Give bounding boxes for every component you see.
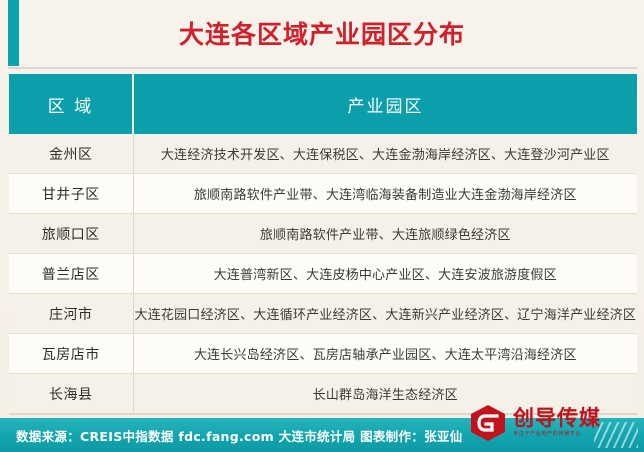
cell-parks: 大连经济技术开发区、大连保税区、大连金渤海岸经济区、大连登沙河产业区 — [133, 134, 637, 174]
cell-parks: 旅顺南路软件产业带、大连湾临海装备制造业大连金渤海岸经济区 — [133, 174, 637, 214]
table-row: 普兰店区 大连普湾新区、大连皮杨中心产业区、大连安波旅游度假区 — [9, 254, 637, 294]
cell-region: 金州区 — [9, 134, 133, 174]
cell-region: 普兰店区 — [9, 254, 133, 294]
cell-parks: 旅顺南路软件产业带、大连旅顺绿色经济区 — [133, 214, 637, 254]
title-band: 大连各区域产业园区分布 — [0, 0, 644, 68]
page-title: 大连各区域产业园区分布 — [0, 0, 644, 66]
table-row: 金州区 大连经济技术开发区、大连保税区、大连金渤海岸经济区、大连登沙河产业区 — [9, 134, 637, 174]
brand-wordmark: 创导传媒 专注于产业地产的传播平台 — [513, 408, 601, 438]
table-row: 甘井子区 旅顺南路软件产业带、大连湾临海装备制造业大连金渤海岸经济区 — [9, 174, 637, 214]
table-row: 瓦房店市 大连长兴岛经济区、瓦房店轴承产业园区、大连太平湾沿海经济区 — [9, 334, 637, 374]
table-row: 庄河市 大连花园口经济区、大连循环产业经济区、大连新兴产业经济区、辽宁海洋产业经… — [9, 294, 637, 334]
table-header: 区 域 产业园区 — [9, 74, 637, 134]
industrial-park-table: 区 域 产业园区 金州区 大连经济技术开发区、大连保税区、大连金渤海岸经济区、大… — [9, 74, 637, 415]
cell-parks: 大连长兴岛经济区、瓦房店轴承产业园区、大连太平湾沿海经济区 — [133, 334, 637, 374]
cell-region: 甘井子区 — [9, 174, 133, 214]
brand-name: 创导传媒 — [513, 408, 601, 429]
cell-region: 瓦房店市 — [9, 334, 133, 374]
table-body: 金州区 大连经济技术开发区、大连保税区、大连金渤海岸经济区、大连登沙河产业区 甘… — [9, 134, 637, 414]
hexagon-cube-icon — [468, 404, 508, 442]
column-header-region: 区 域 — [9, 74, 133, 134]
cell-parks: 大连花园口经济区、大连循环产业经济区、大连新兴产业经济区、辽宁海洋产业经济区 — [133, 294, 637, 334]
cell-region: 庄河市 — [9, 294, 133, 334]
column-header-parks: 产业园区 — [133, 74, 637, 134]
table-header-row: 区 域 产业园区 — [9, 74, 637, 134]
cell-region: 旅顺口区 — [9, 214, 133, 254]
data-source-text: 数据来源：CREIS中指数据 fdc.fang.com 大连市统计局 图表制作：… — [16, 418, 462, 452]
cell-region: 长海县 — [9, 374, 133, 415]
title-divider — [8, 67, 637, 69]
brand-logo: 创导传媒 专注于产业地产的传播平台 — [468, 401, 636, 445]
table-row: 旅顺口区 旅顺南路软件产业带、大连旅顺绿色经济区 — [9, 214, 637, 254]
cell-parks: 大连普湾新区、大连皮杨中心产业区、大连安波旅游度假区 — [133, 254, 637, 294]
brand-tagline: 专注于产业地产的传播平台 — [513, 432, 597, 437]
infographic-page: 大连各区域产业园区分布 区 域 产业园区 金州区 大连经济技术开发区、大连保税区… — [0, 0, 644, 452]
